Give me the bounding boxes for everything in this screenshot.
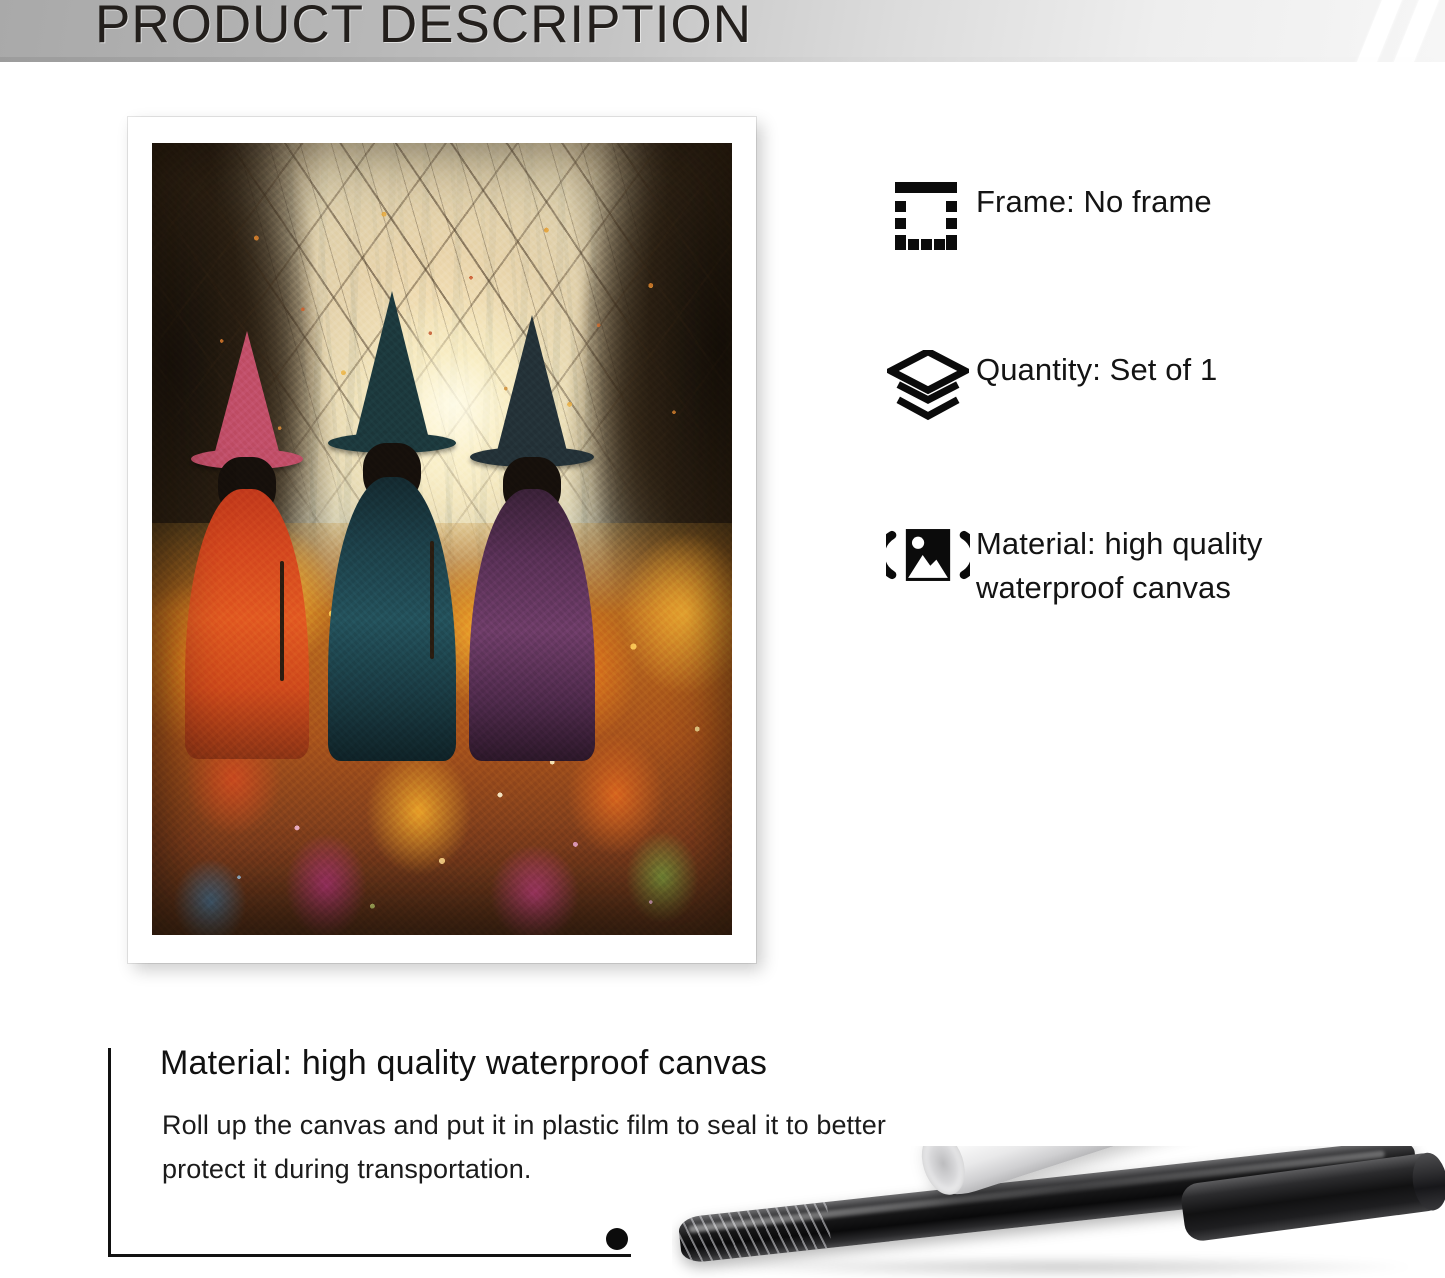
artwork-vignette [152, 143, 732, 935]
page-header-band: PRODUCT DESCRIPTION [0, 0, 1445, 62]
layers-icon [880, 346, 976, 424]
packaging-photo-shadow [712, 1256, 1412, 1278]
page-title: PRODUCT DESCRIPTION [95, 0, 752, 56]
spec-row-material: Material: high quality waterproof canvas [880, 520, 1400, 610]
spec-label-quantity: Quantity: Set of 1 [976, 346, 1217, 392]
picture-icon [880, 520, 976, 586]
callout-heading: Material: high quality waterproof canvas [160, 1044, 767, 1083]
spec-label-material: Material: high quality waterproof canvas [976, 520, 1400, 610]
canvas-artwork-frame [128, 117, 756, 963]
spec-label-frame: Frame: No frame [976, 178, 1212, 224]
picture-icon-svg [886, 524, 970, 586]
frame-icon [880, 178, 976, 250]
callout-end-dot [606, 1228, 628, 1250]
artwork-image [152, 143, 732, 935]
packaging-photo [672, 1146, 1445, 1278]
spec-row-frame: Frame: No frame [880, 178, 1400, 250]
layers-icon-svg [887, 350, 969, 424]
spec-row-quantity: Quantity: Set of 1 [880, 346, 1400, 424]
product-spec-list: Frame: No frame Quantity: Set of 1 Mater… [880, 178, 1400, 706]
black-film-tube-cap [1409, 1151, 1445, 1213]
